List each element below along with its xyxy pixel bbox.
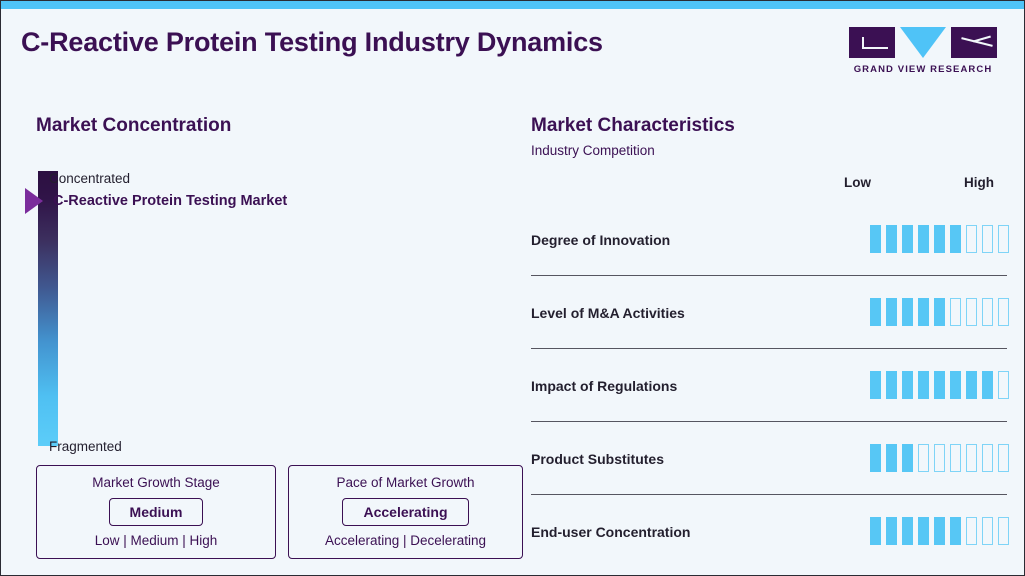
rating-segment-filled [870,444,881,472]
rating-segment-empty [950,444,961,472]
rating-segment-filled [934,298,945,326]
pace-of-market-growth-value: Accelerating [342,498,468,526]
market-position-marker: C-Reactive Protein Testing Market [25,188,287,214]
rating-segment-filled [918,371,929,399]
characteristics-rows: Degree of InnovationLevel of M&A Activit… [531,203,1009,568]
rating-segment-filled [902,517,913,545]
rating-segment-empty [998,298,1009,326]
logo-box-right-icon [951,27,997,58]
characteristic-row: Degree of Innovation [531,203,1009,276]
rating-segment-filled [918,298,929,326]
characteristic-rating-bars [870,225,1009,255]
rating-segment-filled [886,371,897,399]
rating-segment-filled [918,225,929,253]
rating-segment-filled [966,371,977,399]
market-characteristics-subtitle: Industry Competition [531,143,655,158]
rating-segment-empty [998,517,1009,545]
rating-segment-filled [886,444,897,472]
axis-label-high: High [964,175,994,190]
rating-segment-empty [982,225,993,253]
rating-segment-filled [870,517,881,545]
rating-segment-filled [870,298,881,326]
characteristic-label: Level of M&A Activities [531,305,870,321]
market-concentration-title: Market Concentration [36,115,231,137]
characteristic-rating-bars [870,298,1009,328]
axis-labels: Low High [844,175,994,190]
marker-label: C-Reactive Protein Testing Market [53,193,287,209]
marker-arrow-icon [25,188,43,214]
characteristic-row: End-user Concentration [531,495,1009,568]
stat-boxes: Market Growth Stage Medium Low | Medium … [36,465,523,559]
logo-box-left-icon [849,27,895,58]
characteristic-rating-bars [870,444,1009,474]
characteristic-rating-bars [870,517,1009,547]
logo-notch-shape [862,37,888,49]
characteristic-label: End-user Concentration [531,524,870,540]
rating-segment-empty [982,517,993,545]
header: C-Reactive Protein Testing Industry Dyna… [1,9,1024,87]
characteristic-label: Degree of Innovation [531,232,870,248]
page-title: C-Reactive Protein Testing Industry Dyna… [21,27,603,58]
rating-segment-filled [902,371,913,399]
characteristic-rating-bars [870,371,1009,401]
pace-of-market-growth-options: Accelerating | Decelerating [303,533,508,548]
market-characteristics-panel: Market Characteristics Industry Competit… [513,87,1025,576]
rating-segment-filled [934,517,945,545]
axis-label-low: Low [844,175,871,190]
characteristic-row: Impact of Regulations [531,349,1009,422]
market-concentration-panel: Market Concentration Concentrated Fragme… [1,87,513,576]
infographic-root: C-Reactive Protein Testing Industry Dyna… [0,0,1025,576]
rating-segment-empty [966,517,977,545]
rating-segment-empty [966,298,977,326]
rating-segment-empty [966,225,977,253]
rating-segment-empty [998,444,1009,472]
rating-segment-filled [918,517,929,545]
market-growth-stage-options: Low | Medium | High [51,533,261,548]
rating-segment-filled [870,371,881,399]
rating-segment-filled [886,298,897,326]
rating-segment-empty [982,444,993,472]
characteristic-label: Impact of Regulations [531,378,870,394]
rating-segment-filled [934,225,945,253]
market-characteristics-title: Market Characteristics [531,115,735,137]
characteristic-row: Product Substitutes [531,422,1009,495]
logo-triangle-icon [900,27,946,58]
rating-segment-filled [886,517,897,545]
market-growth-stage-box: Market Growth Stage Medium Low | Medium … [36,465,276,559]
rating-segment-filled [982,371,993,399]
rating-segment-filled [950,517,961,545]
market-growth-stage-value: Medium [109,498,204,526]
logo: GRAND VIEW RESEARCH [849,27,997,75]
rating-segment-empty [950,298,961,326]
characteristic-label: Product Substitutes [531,451,870,467]
rating-segment-filled [902,225,913,253]
rating-segment-filled [886,225,897,253]
scale-label-concentrated: Concentrated [49,171,130,186]
pace-of-market-growth-title: Pace of Market Growth [303,475,508,490]
logo-marks [849,27,997,58]
rating-segment-filled [934,371,945,399]
rating-segment-empty [982,298,993,326]
rating-segment-empty [998,371,1009,399]
rating-segment-empty [998,225,1009,253]
characteristic-row: Level of M&A Activities [531,276,1009,349]
rating-segment-filled [902,298,913,326]
rating-segment-filled [902,444,913,472]
rating-segment-empty [918,444,929,472]
logo-text: GRAND VIEW RESEARCH [849,64,997,75]
market-growth-stage-title: Market Growth Stage [51,475,261,490]
rating-segment-filled [870,225,881,253]
pace-of-market-growth-box: Pace of Market Growth Accelerating Accel… [288,465,523,559]
rating-segment-filled [950,225,961,253]
rating-segment-filled [950,371,961,399]
top-accent-bar [1,1,1024,9]
rating-segment-empty [934,444,945,472]
rating-segment-empty [966,444,977,472]
